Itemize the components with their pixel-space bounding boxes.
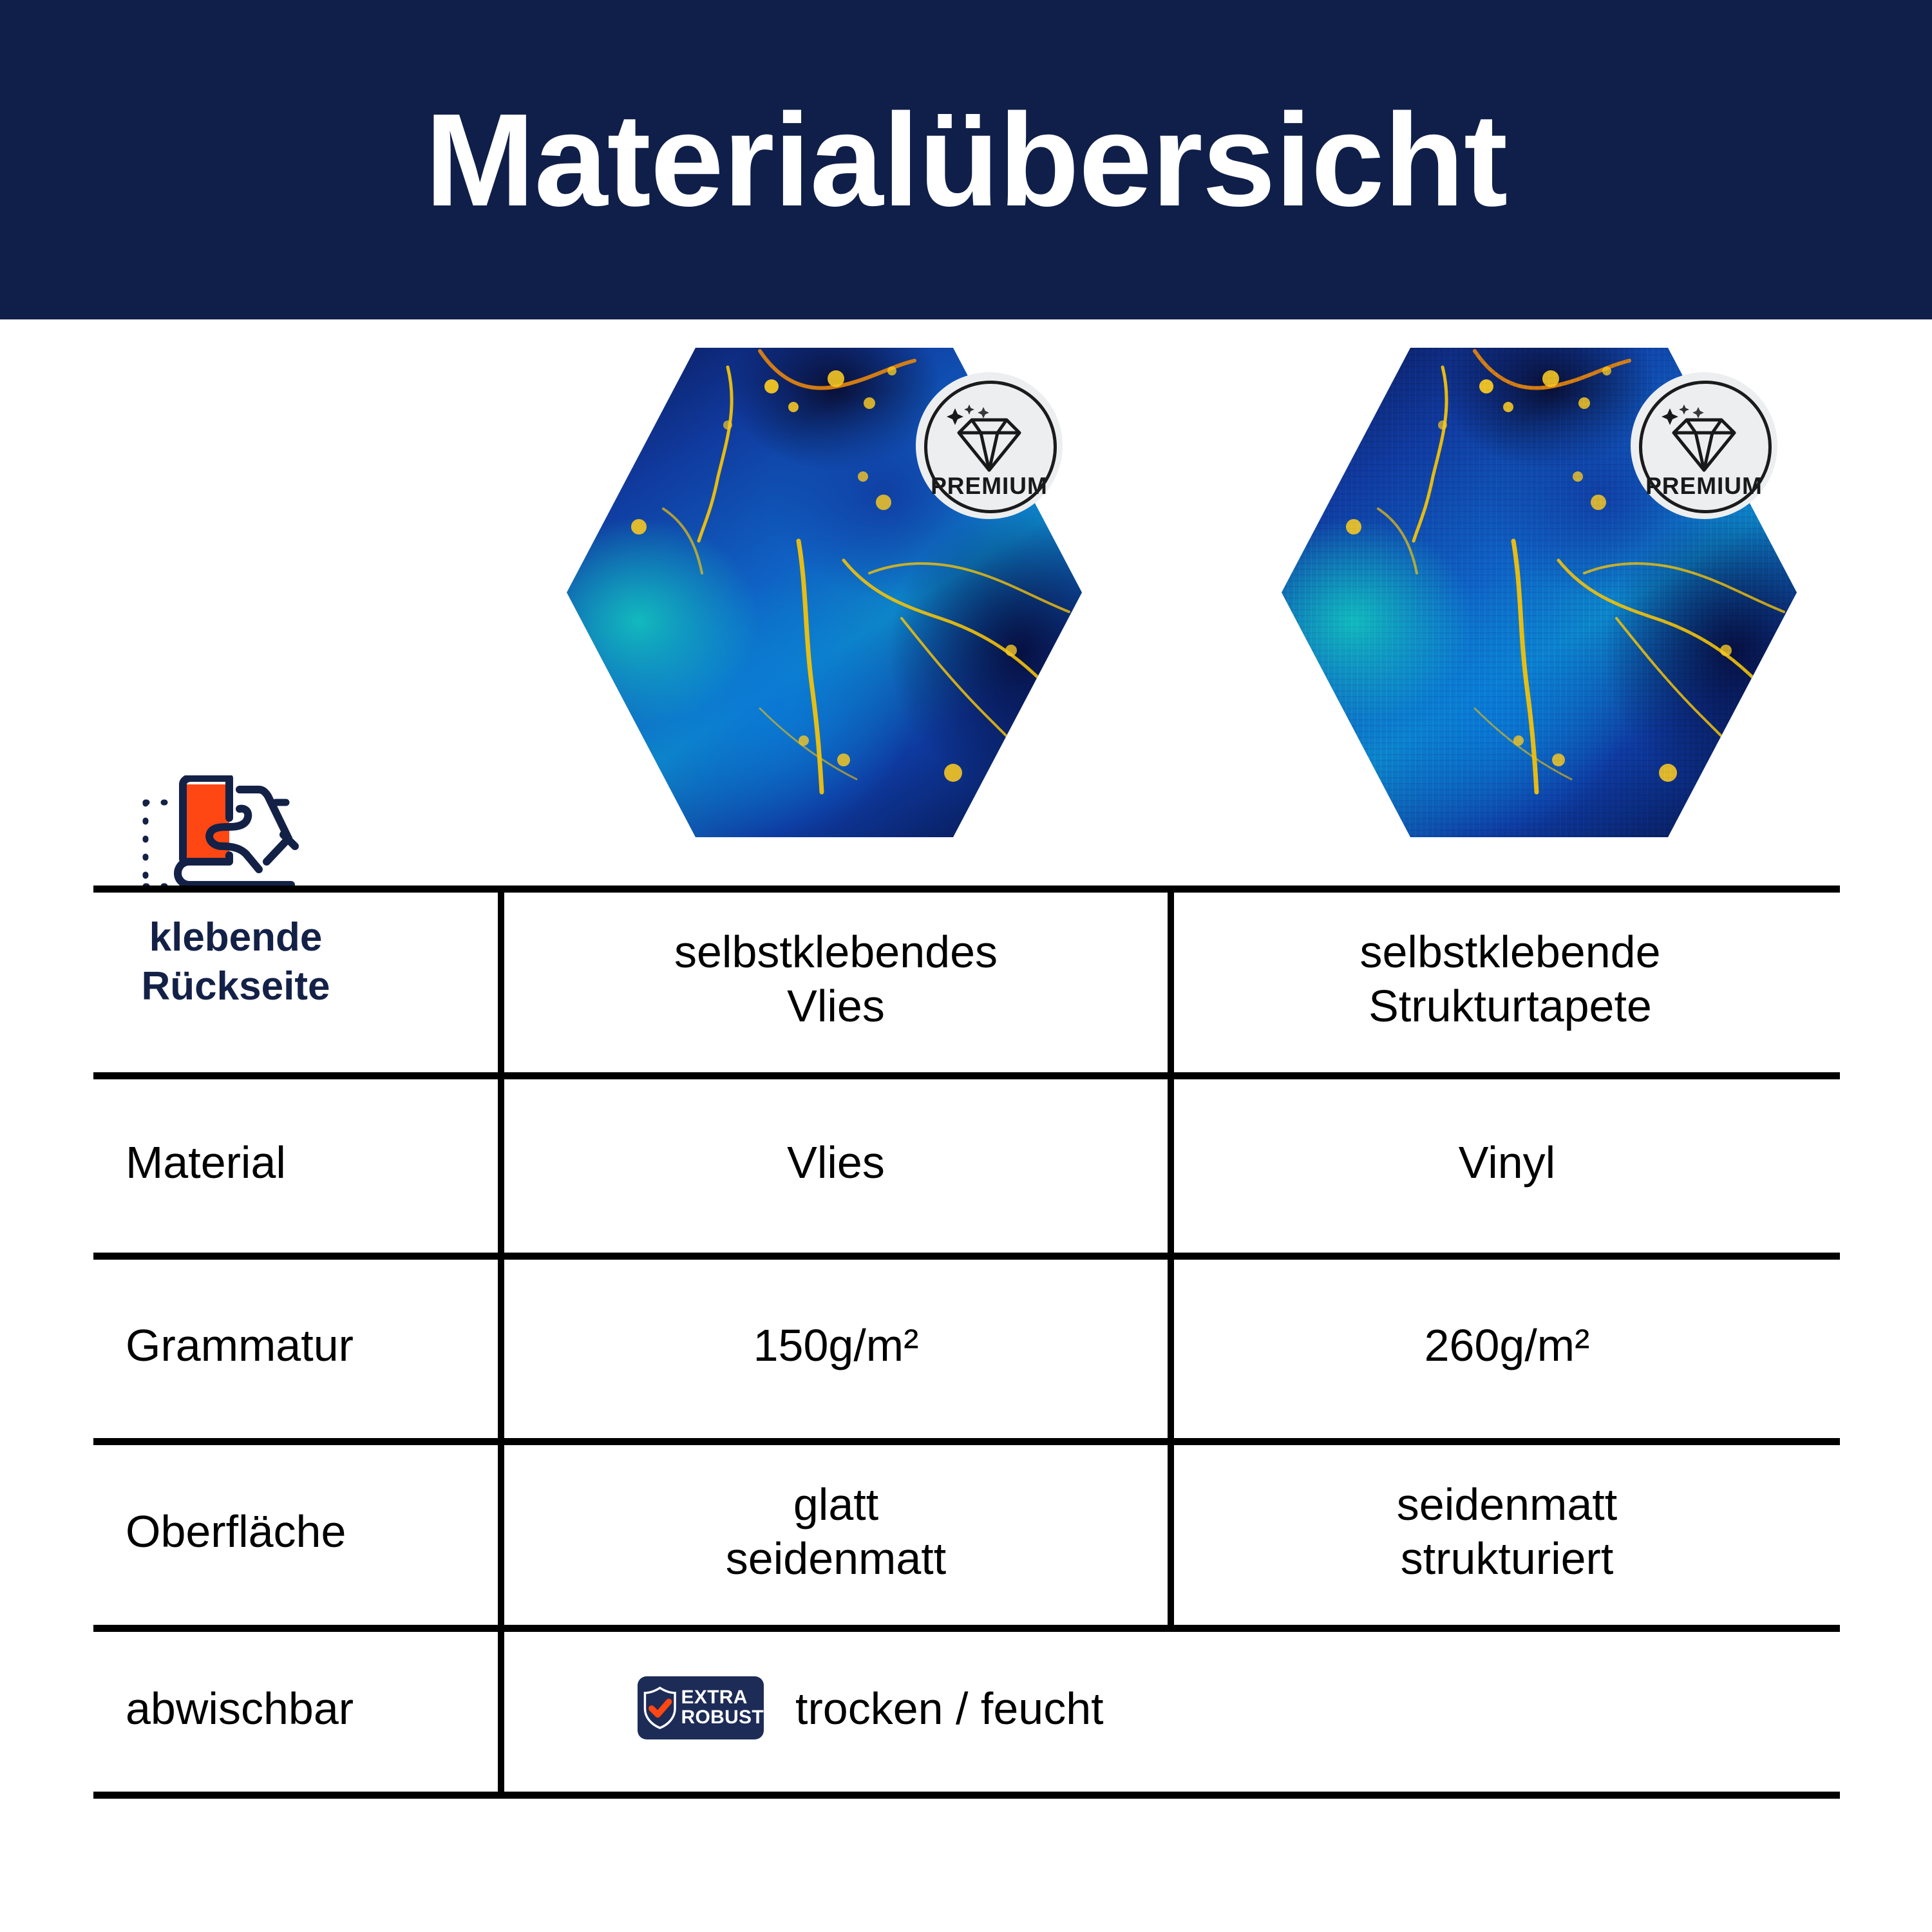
material-comparison-table: selbstklebendes Vlies selbstklebende Str…	[93, 885, 1840, 1799]
table-row-label-grammatur: Grammatur	[93, 1253, 530, 1438]
shield-check-icon	[643, 1683, 677, 1733]
diamond-icon	[941, 403, 1037, 475]
diamond-icon	[1656, 403, 1752, 475]
table-cell-material-col1: Vlies	[504, 1072, 1168, 1253]
table-cell-grammatur-col2: 260g/m²	[1174, 1253, 1840, 1438]
table-cell-oberflaeche-col2: seidenmatt strukturiert	[1174, 1438, 1840, 1625]
premium-badge: PREMIUM	[1631, 372, 1777, 519]
table-cell-oberflaeche-col1: glatt seidenmatt	[504, 1438, 1168, 1625]
table-row-label-material: Material	[93, 1072, 530, 1253]
page-header: Materialübersicht	[0, 0, 1932, 319]
oberflaeche-col2-line2: strukturiert	[1401, 1531, 1614, 1586]
product-image-vlies: PREMIUM	[567, 348, 1082, 837]
premium-badge: PREMIUM	[916, 372, 1063, 519]
table-row-label-oberflaeche: Oberfläche	[93, 1438, 530, 1625]
oberflaeche-col1-line1: glatt	[793, 1477, 878, 1531]
product1-name-line1: selbstklebendes	[674, 925, 998, 979]
table-column-divider	[1168, 885, 1174, 1631]
product2-name-line2: Strukturtapete	[1368, 979, 1652, 1033]
oberflaeche-col2-line1: seidenmatt	[1397, 1477, 1617, 1531]
table-cell-abwischbar-value: trocken / feucht	[795, 1625, 1375, 1792]
table-row-divider	[93, 1792, 1840, 1799]
table-row-label-abwischbar: abwischbar	[93, 1625, 530, 1792]
extra-robust-line1: EXTRA	[681, 1688, 764, 1708]
page-title: Materialübersicht	[425, 94, 1507, 226]
adhesive-back-icon	[126, 775, 307, 902]
table-cell-material-col2: Vinyl	[1174, 1072, 1840, 1253]
oberflaeche-col1-line2: seidenmatt	[726, 1531, 946, 1586]
product1-name-line2: Vlies	[787, 979, 885, 1033]
table-cell-product2-name: selbstklebende Strukturtapete	[1180, 885, 1840, 1072]
table-cell-grammatur-col1: 150g/m²	[504, 1253, 1168, 1438]
extra-robust-line2: ROBUST	[681, 1708, 764, 1728]
product-image-strukturtapete: PREMIUM	[1282, 348, 1797, 837]
extra-robust-text: EXTRA ROBUST	[681, 1688, 764, 1727]
table-cell-product1-name: selbstklebendes Vlies	[511, 885, 1161, 1072]
product2-name-line1: selbstklebende	[1360, 925, 1661, 979]
extra-robust-badge: EXTRA ROBUST	[638, 1676, 764, 1739]
